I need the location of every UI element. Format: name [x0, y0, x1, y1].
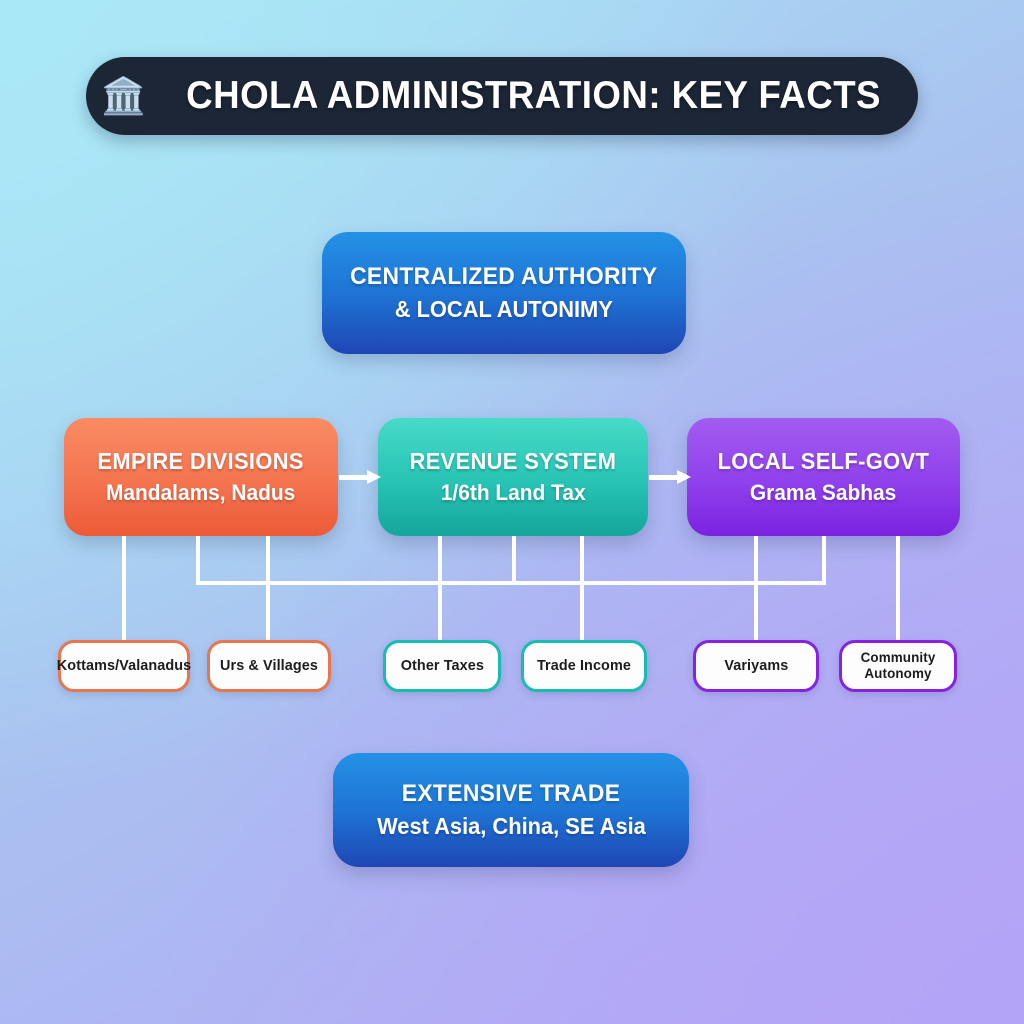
leaf-pill-community-autonomy[interactable]: Community Autonomy — [839, 640, 957, 692]
leaf-pill-label: Urs & Villages — [220, 658, 318, 675]
leaf-pill-urs-villages[interactable]: Urs & Villages — [207, 640, 331, 692]
card-revenue-system[interactable]: REVENUE SYSTEM 1/6th Land Tax — [378, 418, 648, 536]
connector-vertical — [896, 536, 900, 640]
card-title: LOCAL SELF-GOVT — [718, 448, 930, 475]
leaf-pill-label: Community Autonomy — [851, 650, 945, 681]
infographic-canvas: 🏛️ CHOLA ADMINISTRATION: KEY FACTS CENTR… — [0, 0, 1024, 1024]
card-empire-divisions[interactable]: EMPIRE DIVISIONS Mandalams, Nadus — [64, 418, 338, 536]
leaf-pill-label: Kottams/Valanadus — [57, 658, 191, 675]
connector-horizontal-rail — [584, 581, 826, 585]
connector-vertical — [754, 536, 758, 640]
leaf-pill-label: Other Taxes — [400, 658, 483, 675]
flow-arrow-right-icon — [339, 472, 381, 482]
card-subtitle: Mandalams, Nadus — [106, 480, 295, 506]
card-title: EXTENSIVE TRADE — [402, 780, 621, 808]
card-local-self-govt[interactable]: LOCAL SELF-GOVT Grama Sabhas — [687, 418, 960, 536]
leaf-pill-trade-income[interactable]: Trade Income — [521, 640, 647, 692]
leaf-pill-label: Variyams — [724, 658, 788, 675]
connector-vertical — [580, 536, 584, 640]
leaf-pill-variyams[interactable]: Variyams — [693, 640, 819, 692]
arrow-head — [677, 470, 691, 484]
card-extensive-trade[interactable]: EXTENSIVE TRADE West Asia, China, SE Asi… — [333, 753, 689, 867]
connector-horizontal-rail — [270, 581, 584, 585]
connector-vertical — [196, 536, 200, 585]
connector-vertical — [122, 536, 126, 640]
flow-arrow-right-icon — [649, 472, 691, 482]
connector-vertical — [512, 536, 516, 585]
card-subtitle: & LOCAL AUTONIMY — [395, 296, 613, 323]
card-title: CENTRALIZED AUTHORITY — [350, 263, 657, 291]
bank-building-icon: 🏛️ — [101, 78, 146, 114]
arrow-head — [367, 470, 381, 484]
card-title: EMPIRE DIVISIONS — [98, 448, 304, 475]
card-subtitle: West Asia, China, SE Asia — [377, 813, 646, 840]
connector-vertical — [438, 536, 442, 640]
arrow-shaft — [339, 475, 369, 480]
title-banner: 🏛️ CHOLA ADMINISTRATION: KEY FACTS — [86, 57, 918, 135]
leaf-pill-label: Trade Income — [537, 658, 631, 675]
page-title: CHOLA ADMINISTRATION: KEY FACTS — [186, 74, 881, 118]
card-subtitle: 1/6th Land Tax — [441, 480, 586, 506]
connector-vertical — [266, 536, 270, 640]
card-centralized-authority[interactable]: CENTRALIZED AUTHORITY & LOCAL AUTONIMY — [322, 232, 686, 354]
leaf-pill-kottams-valanadus[interactable]: Kottams/Valanadus — [58, 640, 190, 692]
card-title: REVENUE SYSTEM — [410, 448, 617, 475]
connector-horizontal-rail — [196, 581, 270, 585]
arrow-shaft — [649, 475, 679, 480]
connector-vertical — [822, 536, 826, 585]
card-subtitle: Grama Sabhas — [750, 480, 896, 506]
leaf-pill-other-taxes[interactable]: Other Taxes — [383, 640, 501, 692]
